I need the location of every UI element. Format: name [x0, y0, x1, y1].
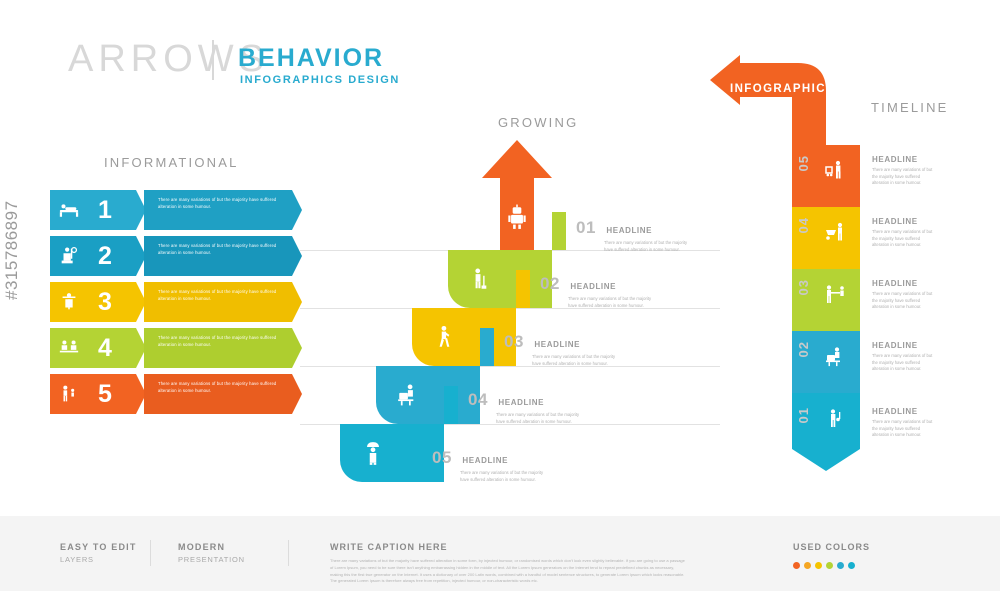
- footer-easy-edit: EASY TO EDIT LAYERS: [60, 542, 137, 564]
- growing-num: 04: [468, 390, 488, 409]
- footer-caption: WRITE CAPTION HERE: [330, 542, 448, 552]
- growing-step-05[interactable]: [340, 424, 444, 482]
- timeline-num-03: 03: [796, 279, 811, 295]
- growing-desc: There are many variations of but the maj…: [532, 354, 624, 367]
- growing-step-03-shadow: [480, 328, 494, 366]
- color-swatch: [815, 562, 822, 569]
- timeline-headline-01: HEADLINE: [872, 407, 918, 416]
- informational-number-arrow[interactable]: 1: [50, 190, 146, 230]
- timeline-desc-04: There are many variations of but the maj…: [872, 229, 934, 249]
- footer-modern: MODERN PRESENTATION: [178, 542, 245, 564]
- growing-headline: HEADLINE: [606, 226, 652, 235]
- growing-desc: There are many variations of but the maj…: [568, 296, 660, 309]
- growing-headline: HEADLINE: [534, 340, 580, 349]
- person-walking-icon: [412, 308, 516, 366]
- timeline-desc-03: There are many variations of but the maj…: [872, 291, 934, 311]
- informational-number: 2: [98, 244, 112, 269]
- informational-number: 1: [98, 198, 112, 223]
- footer-bar: EASY TO EDIT LAYERS MODERN PRESENTATION …: [0, 516, 1000, 591]
- growing-num: 03: [504, 332, 524, 351]
- informational-number: 5: [98, 382, 112, 407]
- color-swatches: [793, 562, 855, 569]
- timeline-num-01: 01: [796, 407, 811, 423]
- color-swatch: [826, 562, 833, 569]
- timeline-desc-02: There are many variations of but the maj…: [872, 353, 934, 373]
- growing-label-04: 04 HEADLINE There are many variations of…: [468, 390, 588, 425]
- informational-desc: There are many variations of but the maj…: [158, 197, 288, 210]
- informational-number: 3: [98, 290, 112, 315]
- person-desk-icon: [824, 345, 848, 369]
- growing-headline: HEADLINE: [570, 282, 616, 291]
- timeline-headline-03: HEADLINE: [872, 279, 918, 288]
- growing-headline: HEADLINE: [462, 456, 508, 465]
- growing-label-01: 01 HEADLINE There are many variations of…: [576, 218, 696, 253]
- growing-step-02-shadow: [516, 270, 530, 308]
- color-swatch: [804, 562, 811, 569]
- timeline-num-04: 04: [796, 217, 811, 233]
- person-helping-icon: [824, 283, 848, 307]
- informational-body: There are many variations of but the maj…: [144, 282, 302, 322]
- informational-number: 4: [98, 336, 112, 361]
- person-farmer-icon: [50, 282, 88, 322]
- person-cart-icon: [824, 159, 848, 183]
- informational-body: There are many variations of but the maj…: [144, 374, 302, 414]
- footer-body-text: There are many variations of but the maj…: [330, 558, 685, 585]
- timeline-num-02: 02: [796, 341, 811, 357]
- growing-num: 01: [576, 218, 596, 237]
- growing-desc: There are many variations of but the maj…: [460, 470, 552, 483]
- informational-number-arrow[interactable]: 2: [50, 236, 146, 276]
- person-wheelbarrow-icon: [824, 221, 848, 245]
- person-firefighter-icon: [340, 424, 444, 482]
- growing-label-05: 05 HEADLINE There are many variations of…: [432, 448, 552, 483]
- growing-headline: HEADLINE: [498, 398, 544, 407]
- informational-number-arrow[interactable]: 3: [50, 282, 146, 322]
- footer-colors-title: USED COLORS: [793, 542, 870, 552]
- footer-easy-title: EASY TO EDIT: [60, 542, 137, 552]
- header-subject: BEHAVIOR: [238, 44, 384, 73]
- section-title-informational: INFORMATIONAL: [104, 155, 239, 170]
- growing-label-03: 03 HEADLINE There are many variations of…: [504, 332, 624, 367]
- footer-divider: [150, 540, 151, 566]
- growing-step-04[interactable]: [376, 366, 480, 424]
- person-music-icon: [824, 407, 848, 431]
- person-desk-icon: [376, 366, 480, 424]
- timeline-item-01[interactable]: [792, 393, 860, 471]
- informational-body: There are many variations of but the maj…: [144, 236, 302, 276]
- person-robot-icon: [482, 140, 552, 250]
- footer-modern-title: MODERN: [178, 542, 245, 552]
- person-award-icon: [50, 236, 88, 276]
- growing-desc: There are many variations of but the maj…: [496, 412, 588, 425]
- timeline-headline-02: HEADLINE: [872, 341, 918, 350]
- informational-number-arrow[interactable]: 5: [50, 374, 146, 414]
- person-desk-icon: [50, 328, 88, 368]
- person-bed-icon: [50, 190, 88, 230]
- growing-step-01-shadow: [552, 212, 566, 250]
- footer-divider: [288, 540, 289, 566]
- timeline-headline-04: HEADLINE: [872, 217, 918, 226]
- growing-num: 02: [540, 274, 560, 293]
- color-swatch: [793, 562, 800, 569]
- person-cleaning-icon: [448, 250, 552, 308]
- infographics-badge: INFOGRAPHICS: [730, 83, 835, 95]
- color-swatch: [837, 562, 844, 569]
- footer-modern-sub: PRESENTATION: [178, 555, 245, 564]
- growing-label-02: 02 HEADLINE There are many variations of…: [540, 274, 660, 309]
- growing-step-01[interactable]: [482, 140, 552, 250]
- timeline-diagram: INFOGRAPHICS 05 HEADLINE There are many …: [700, 55, 1000, 475]
- growing-num: 05: [432, 448, 452, 467]
- timeline-desc-01: There are many variations of but the maj…: [872, 419, 934, 439]
- informational-desc: There are many variations of but the maj…: [158, 381, 288, 394]
- color-swatch: [848, 562, 855, 569]
- timeline-desc-05: There are many variations of but the maj…: [872, 167, 934, 187]
- informational-desc: There are many variations of but the maj…: [158, 243, 288, 256]
- header-subtitle: INFOGRAPHICS DESIGN: [240, 74, 400, 86]
- timeline-hook-arrow: [700, 55, 860, 145]
- header-divider: [212, 40, 214, 80]
- informational-desc: There are many variations of but the maj…: [158, 335, 288, 348]
- section-title-growing: GROWING: [498, 115, 578, 130]
- timeline-num-05: 05: [796, 155, 811, 171]
- footer-easy-sub: LAYERS: [60, 555, 137, 564]
- person-child-icon: [50, 374, 88, 414]
- growing-step-03[interactable]: [412, 308, 516, 366]
- timeline-headline-05: HEADLINE: [872, 155, 918, 164]
- informational-body: There are many variations of but the maj…: [144, 190, 302, 230]
- growing-diagram: 01 HEADLINE There are many variations of…: [300, 140, 720, 450]
- informational-desc: There are many variations of but the maj…: [158, 289, 288, 302]
- growing-desc: There are many variations of but the maj…: [604, 240, 696, 253]
- growing-step-04-shadow: [444, 386, 458, 424]
- informational-body: There are many variations of but the maj…: [144, 328, 302, 368]
- informational-number-arrow[interactable]: 4: [50, 328, 146, 368]
- growing-step-02[interactable]: [448, 250, 552, 308]
- watermark-id: #315786897: [2, 200, 22, 300]
